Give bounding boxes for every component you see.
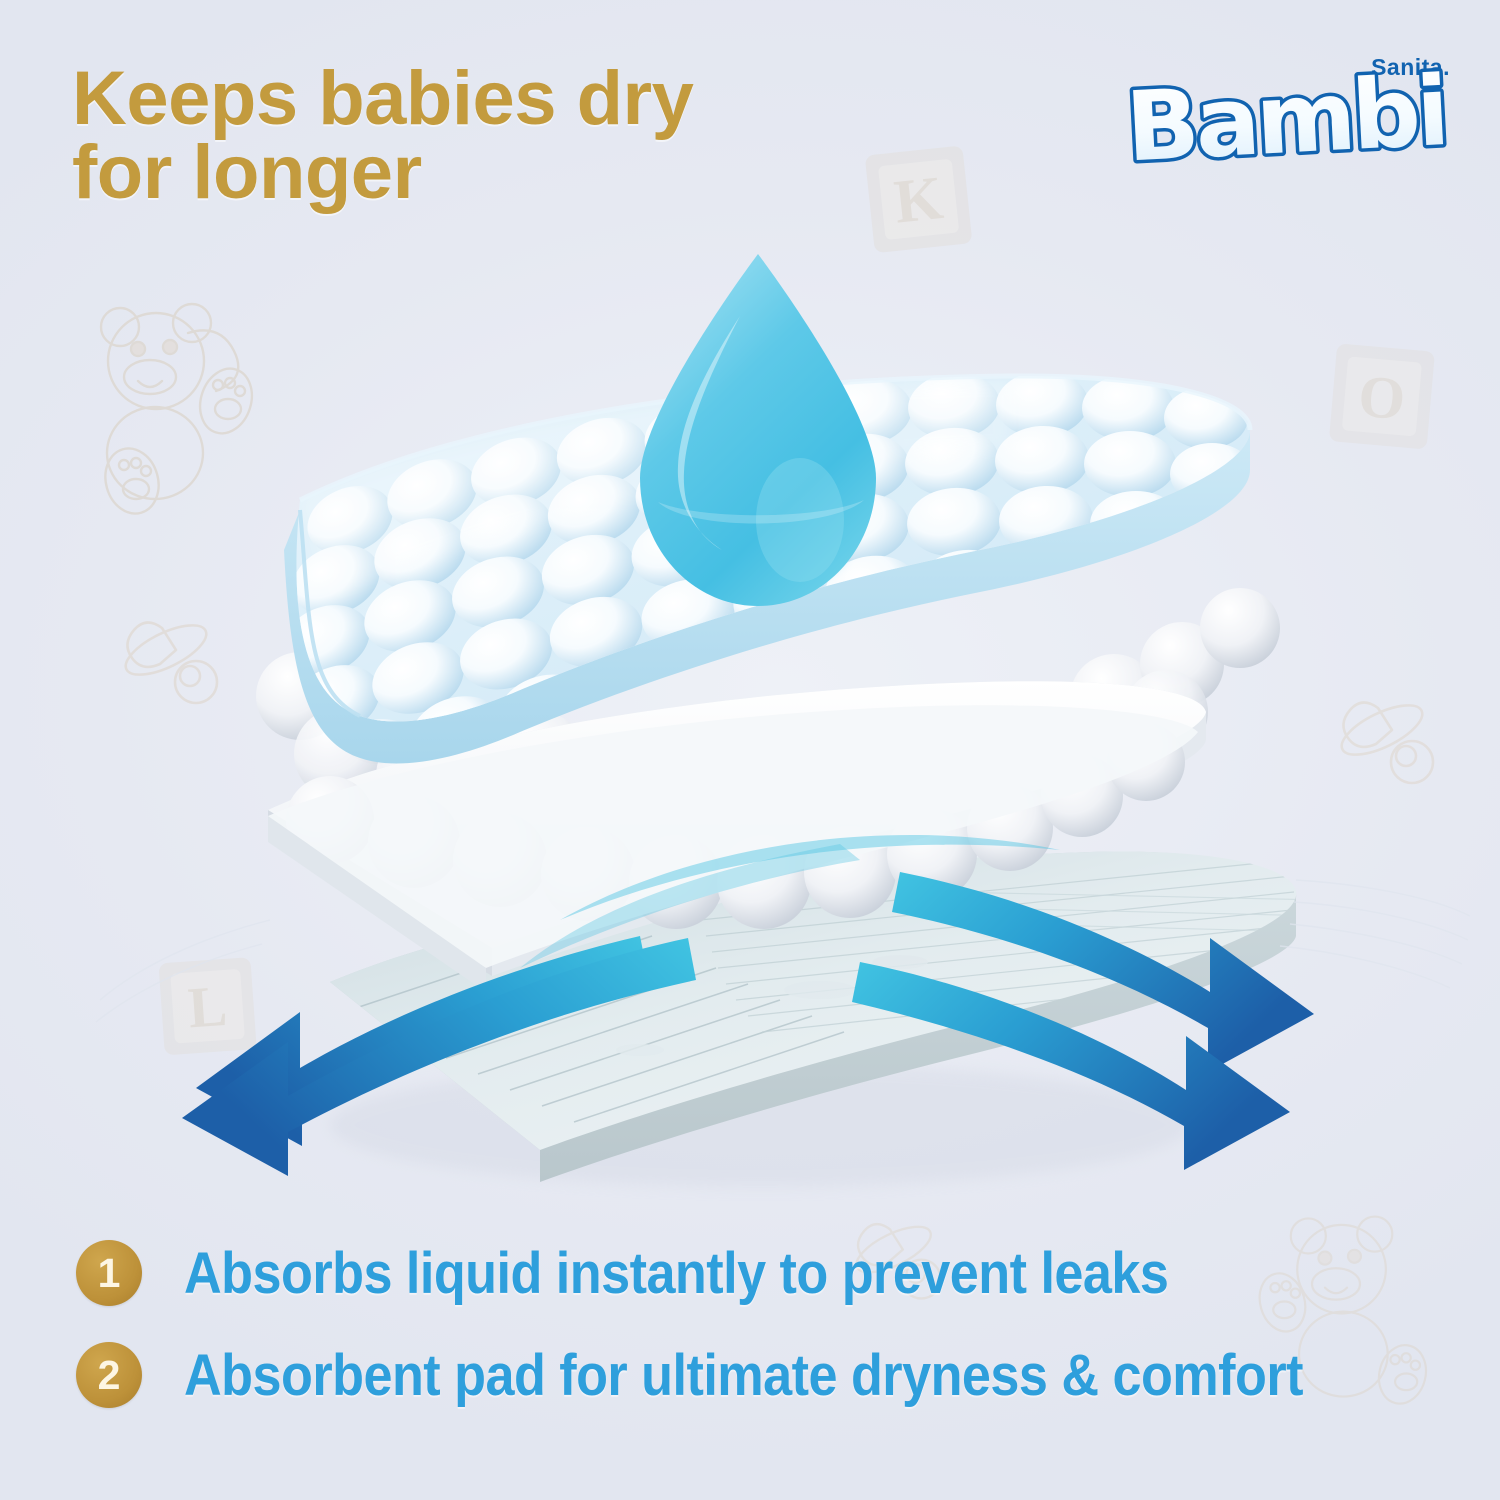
water-droplet <box>640 254 876 606</box>
page-title: Keeps babies dry for longer <box>72 62 892 209</box>
infographic-canvas: K O <box>0 0 1500 1500</box>
feature-number-badge: 2 <box>76 1342 142 1408</box>
list-item: 1 Absorbs liquid instantly to prevent le… <box>76 1222 1456 1324</box>
absorbent-core-illustration <box>0 220 1500 1220</box>
feature-list: 1 Absorbs liquid instantly to prevent le… <box>76 1222 1456 1426</box>
brand-logo: Sanita. Bambi <box>1120 52 1460 172</box>
feature-text: Absorbs liquid instantly to prevent leak… <box>184 1240 1168 1307</box>
feature-text: Absorbent pad for ultimate dryness & com… <box>184 1342 1303 1409</box>
list-item: 2 Absorbent pad for ultimate dryness & c… <box>76 1324 1456 1426</box>
feature-number-badge: 1 <box>76 1240 142 1306</box>
bambi-wordmark: Bambi <box>1120 66 1460 170</box>
svg-text:Bambi: Bambi <box>1123 66 1448 170</box>
headline-line-2: for longer <box>72 136 892 210</box>
headline-line-1: Keeps babies dry <box>72 56 693 141</box>
